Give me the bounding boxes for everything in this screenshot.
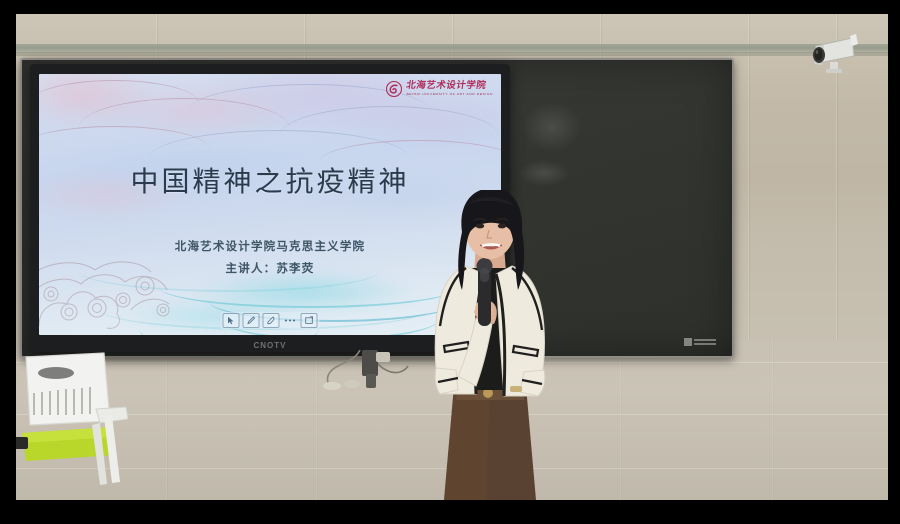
wall-trim-shadow [16,52,888,56]
letterbox-top [0,0,900,14]
presenter-person [414,190,566,500]
swirl-logo-icon [386,81,402,97]
logo-chinese-name: 北海艺术设计学院 [406,82,494,92]
more-options-icon[interactable] [283,314,298,327]
classroom-scene: 北海艺术设计学院 BEIHAI UNIVERSITY OF ART AND DE… [16,14,888,500]
letterbox-bottom [0,500,900,524]
annotation-toolbar[interactable] [221,312,320,329]
select-cursor-icon[interactable] [223,313,240,328]
screenshot-frame-icon[interactable] [301,313,318,328]
pen-icon[interactable] [243,313,260,328]
display-cables [316,350,426,406]
logo-english-name: BEIHAI UNIVERSITY OF ART AND DESIGN [406,93,493,96]
classroom-chair [16,351,128,486]
surveillance-camera [806,26,860,74]
letterbox-left [0,0,16,524]
display-brand-label: CNOTV [254,341,287,350]
slide-university-logo: 北海艺术设计学院 BEIHAI UNIVERSITY OF ART AND DE… [386,81,493,97]
video-frame: 北海艺术设计学院 BEIHAI UNIVERSITY OF ART AND DE… [0,0,900,524]
blackboard-manufacturer-plate [684,334,724,350]
letterbox-right [888,0,900,524]
highlighter-icon[interactable] [263,313,280,328]
